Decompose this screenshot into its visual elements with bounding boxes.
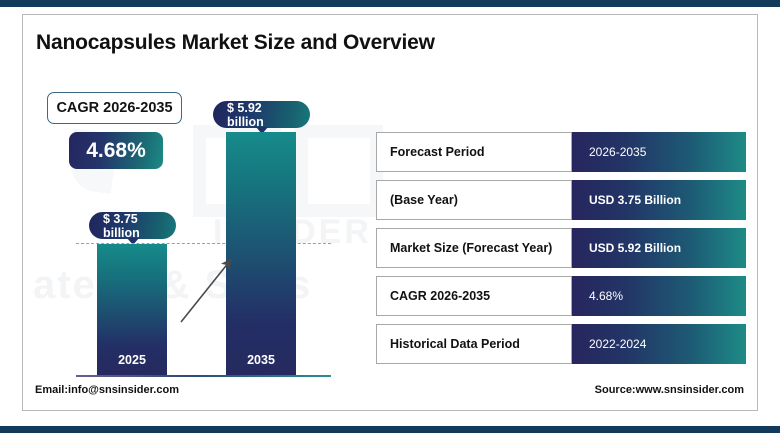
table-cell-label: Market Size (Forecast Year) — [376, 228, 572, 268]
bar-label-2035: 2035 — [226, 353, 296, 367]
table-cell-label: (Base Year) — [376, 180, 572, 220]
footer-source: Source:www.snsinsider.com — [595, 384, 744, 396]
table-cell-value: 2026-2035 — [572, 132, 746, 172]
bar-chart: $ 5.92 billion $ 3.75 billion 2035 2025 — [23, 15, 383, 411]
table-row: CAGR 2026-2035 4.68% — [376, 276, 746, 316]
infographic-root: INSIDER ategy & Stats Nanocapsules Marke… — [0, 0, 780, 433]
bar-label-2025: 2025 — [97, 353, 167, 367]
bar-2025: 2025 — [97, 244, 167, 375]
summary-table: Forecast Period 2026-2035 (Base Year) US… — [376, 132, 746, 372]
footer-email: Email:info@snsinsider.com — [35, 384, 179, 396]
table-cell-value: USD 3.75 Billion — [572, 180, 746, 220]
table-row: Forecast Period 2026-2035 — [376, 132, 746, 172]
bottom-accent-bar — [0, 426, 780, 433]
table-row: Historical Data Period 2022-2024 — [376, 324, 746, 364]
value-callout-2025: $ 3.75 billion — [89, 212, 176, 239]
table-row: Market Size (Forecast Year) USD 5.92 Bil… — [376, 228, 746, 268]
top-accent-bar — [0, 0, 780, 7]
growth-arrow-icon — [173, 250, 243, 330]
table-cell-value: USD 5.92 Billion — [572, 228, 746, 268]
chart-axis-line — [76, 375, 331, 377]
table-cell-label: Forecast Period — [376, 132, 572, 172]
table-cell-value: 2022-2024 — [572, 324, 746, 364]
content-card: INSIDER ategy & Stats Nanocapsules Marke… — [22, 14, 758, 411]
table-cell-label: CAGR 2026-2035 — [376, 276, 572, 316]
table-row: (Base Year) USD 3.75 Billion — [376, 180, 746, 220]
table-cell-label: Historical Data Period — [376, 324, 572, 364]
table-cell-value: 4.68% — [572, 276, 746, 316]
value-callout-2035: $ 5.92 billion — [213, 101, 310, 128]
